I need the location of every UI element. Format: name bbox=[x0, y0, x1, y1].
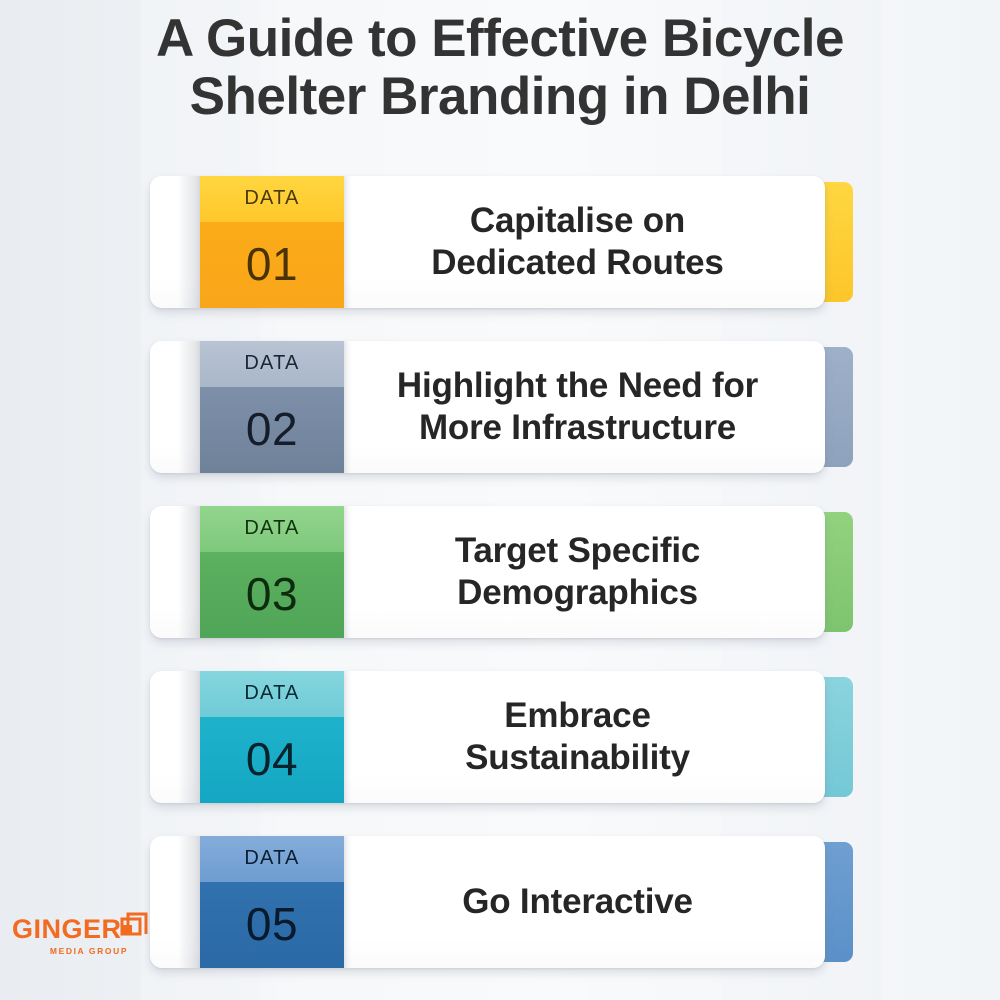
logo-subtitle: MEDIA GROUP bbox=[36, 946, 142, 956]
title-line-1: A Guide to Effective Bicycle bbox=[26, 10, 974, 68]
row-text-line-2: Sustainability bbox=[465, 738, 690, 777]
row-text-content: EmbraceSustainability bbox=[465, 695, 690, 779]
badge-number: 05 bbox=[246, 901, 298, 953]
row-text-line-1: Capitalise on bbox=[470, 201, 685, 240]
brand-logo: GINGER MEDIA GROUP bbox=[12, 916, 142, 972]
badge-top-section: DATA bbox=[200, 836, 344, 882]
badge-top-section: DATA bbox=[200, 671, 344, 717]
badge-top-section: DATA bbox=[200, 341, 344, 387]
row-text-line-2: Demographics bbox=[457, 573, 698, 612]
badge-bottom-section: 02 bbox=[200, 387, 344, 473]
row-text-line-2: Dedicated Routes bbox=[431, 243, 723, 282]
badge-number: 01 bbox=[246, 241, 298, 293]
badge-data-label: DATA bbox=[244, 517, 299, 540]
row-number-badge: DATA04 bbox=[200, 671, 344, 803]
row-text-content: Highlight the Need forMore Infrastructur… bbox=[397, 365, 758, 449]
badge-bottom-section: 03 bbox=[200, 552, 344, 638]
row-text: Capitalise onDedicated Routes bbox=[350, 176, 805, 308]
data-row[interactable]: EmbraceSustainabilityDATA04 bbox=[150, 671, 850, 803]
row-number-badge: DATA02 bbox=[200, 341, 344, 473]
badge-top-section: DATA bbox=[200, 176, 344, 222]
row-card[interactable]: Capitalise onDedicated RoutesDATA01 bbox=[150, 176, 825, 308]
row-text-line-1: Highlight the Need for bbox=[397, 366, 758, 405]
title-line-2: Shelter Branding in Delhi bbox=[26, 68, 974, 126]
data-row[interactable]: Capitalise onDedicated RoutesDATA01 bbox=[150, 176, 850, 308]
row-text-line-2: More Infrastructure bbox=[419, 408, 736, 447]
badge-number: 02 bbox=[246, 406, 298, 458]
row-text-line-1: Embrace bbox=[504, 696, 650, 735]
row-number-badge: DATA05 bbox=[200, 836, 344, 968]
badge-data-label: DATA bbox=[244, 682, 299, 705]
row-card[interactable]: EmbraceSustainabilityDATA04 bbox=[150, 671, 825, 803]
data-row[interactable]: Highlight the Need forMore Infrastructur… bbox=[150, 341, 850, 473]
row-number-badge: DATA03 bbox=[200, 506, 344, 638]
row-text-line-1: Target Specific bbox=[455, 531, 700, 570]
badge-bottom-section: 01 bbox=[200, 222, 344, 308]
data-row-list: Capitalise onDedicated RoutesDATA01Highl… bbox=[150, 176, 850, 1000]
row-card[interactable]: Go InteractiveDATA05 bbox=[150, 836, 825, 968]
data-row[interactable]: Target SpecificDemographicsDATA03 bbox=[150, 506, 850, 638]
badge-data-label: DATA bbox=[244, 352, 299, 375]
row-text: Target SpecificDemographics bbox=[350, 506, 805, 638]
row-number-badge: DATA01 bbox=[200, 176, 344, 308]
page-title: A Guide to Effective Bicycle Shelter Bra… bbox=[0, 10, 1000, 127]
badge-top-section: DATA bbox=[200, 506, 344, 552]
badge-number: 03 bbox=[246, 571, 298, 623]
badge-bottom-section: 04 bbox=[200, 717, 344, 803]
row-text-content: Capitalise onDedicated Routes bbox=[431, 200, 723, 284]
row-text: EmbraceSustainability bbox=[350, 671, 805, 803]
row-text-content: Go Interactive bbox=[462, 881, 693, 923]
logo-mark-icon bbox=[120, 912, 148, 936]
badge-number: 04 bbox=[246, 736, 298, 788]
row-text-content: Target SpecificDemographics bbox=[455, 530, 700, 614]
row-text-line-1: Go Interactive bbox=[462, 882, 693, 921]
row-text: Go Interactive bbox=[350, 836, 805, 968]
badge-data-label: DATA bbox=[244, 847, 299, 870]
data-row[interactable]: Go InteractiveDATA05 bbox=[150, 836, 850, 968]
row-text: Highlight the Need forMore Infrastructur… bbox=[350, 341, 805, 473]
badge-data-label: DATA bbox=[244, 187, 299, 210]
row-card[interactable]: Target SpecificDemographicsDATA03 bbox=[150, 506, 825, 638]
badge-bottom-section: 05 bbox=[200, 882, 344, 968]
row-card[interactable]: Highlight the Need forMore Infrastructur… bbox=[150, 341, 825, 473]
